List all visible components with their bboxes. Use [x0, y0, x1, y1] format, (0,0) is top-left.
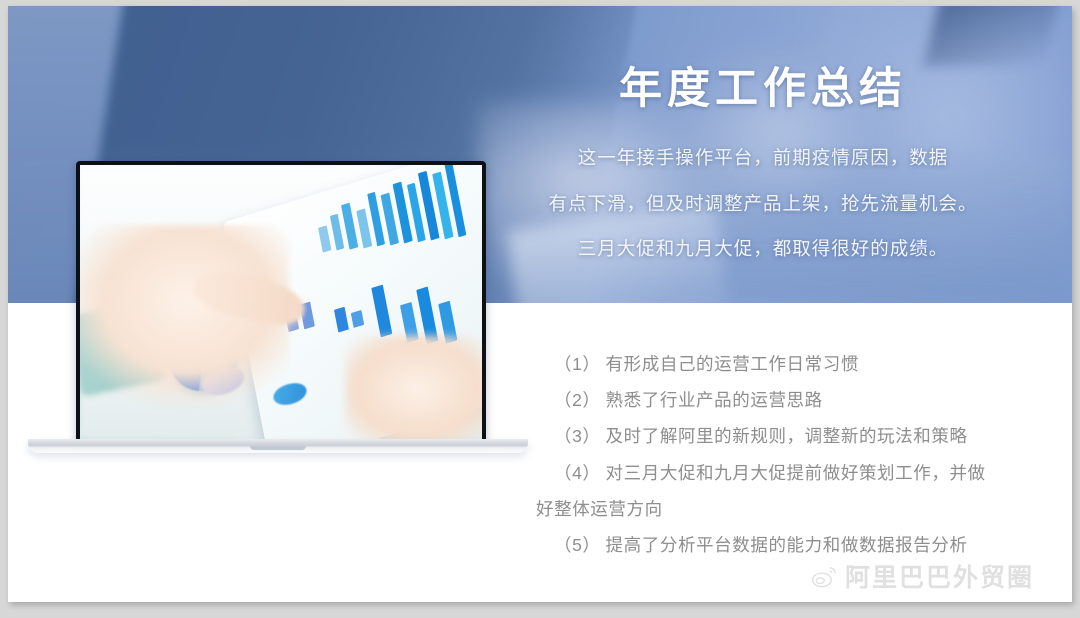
chart-bar — [318, 226, 331, 253]
laptop-lid — [76, 161, 486, 443]
subtitle-line-1: 这一年接手操作平台，前期疫情原因，数据 — [503, 135, 1023, 180]
list-item-text: 有形成自己的运营工作日常习惯 — [606, 354, 859, 374]
list-item-text: 熟悉了行业产品的运营思路 — [606, 390, 823, 410]
watermark: 阿里巴巴外贸圈 — [811, 558, 1034, 594]
list-item: （3）及时了解阿里的新规则，调整新的玩法和策略 — [536, 418, 1036, 454]
list-item: （1）有形成自己的运营工作日常习惯 — [536, 346, 1036, 382]
list-item-number: （4） — [554, 463, 601, 483]
chart-bar — [356, 209, 372, 249]
achievement-list: （1）有形成自己的运营工作日常习惯 （2）熟悉了行业产品的运营思路 （3）及时了… — [536, 346, 1036, 563]
list-item: （2）熟悉了行业产品的运营思路 — [536, 382, 1036, 418]
list-item-continuation: 好整体运营方向 — [536, 491, 1036, 527]
subtitle-line-3: 三月大促和九月大促，都取得很好的成绩。 — [503, 226, 1023, 271]
list-item-text: 及时了解阿里的新规则，调整新的玩法和策略 — [606, 426, 968, 446]
laptop-mockup-image — [28, 161, 528, 461]
list-item: （4）对三月大促和九月大促提前做好策划工作，并做 — [536, 455, 1036, 491]
chart-bar — [341, 203, 358, 250]
page-title: 年度工作总结 — [503, 6, 1023, 113]
slide-page: 年度工作总结 这一年接手操作平台，前期疫情原因，数据 有点下滑，但及时调整产品上… — [8, 6, 1072, 602]
laptop-screen-photo — [80, 165, 482, 439]
weibo-logo-icon — [811, 563, 838, 590]
chart-bar — [334, 307, 349, 333]
laptop-notch — [250, 446, 306, 450]
chart-bar — [329, 214, 344, 251]
list-item-number: （2） — [554, 390, 601, 410]
list-item-text: 提高了分析平台数据的能力和做数据报告分析 — [606, 535, 968, 555]
list-item-text: 好整体运营方向 — [536, 499, 663, 519]
chart-bar — [351, 310, 364, 328]
list-item-number: （5） — [554, 535, 601, 555]
header-text-block: 年度工作总结 这一年接手操作平台，前期疫情原因，数据 有点下滑，但及时调整产品上… — [503, 6, 1023, 303]
list-item-text: 对三月大促和九月大促提前做好策划工作，并做 — [606, 463, 986, 483]
photo-second-hand — [345, 335, 482, 439]
subtitle-line-2: 有点下滑，但及时调整产品上架，抢先流量机会。 — [503, 181, 1023, 226]
list-item-number: （1） — [554, 354, 601, 374]
watermark-text: 阿里巴巴外贸圈 — [845, 558, 1034, 594]
list-item-number: （3） — [554, 426, 601, 446]
slide-subtitle: 这一年接手操作平台，前期疫情原因，数据 有点下滑，但及时调整产品上架，抢先流量机… — [503, 113, 1023, 271]
chart-bar — [371, 285, 392, 338]
